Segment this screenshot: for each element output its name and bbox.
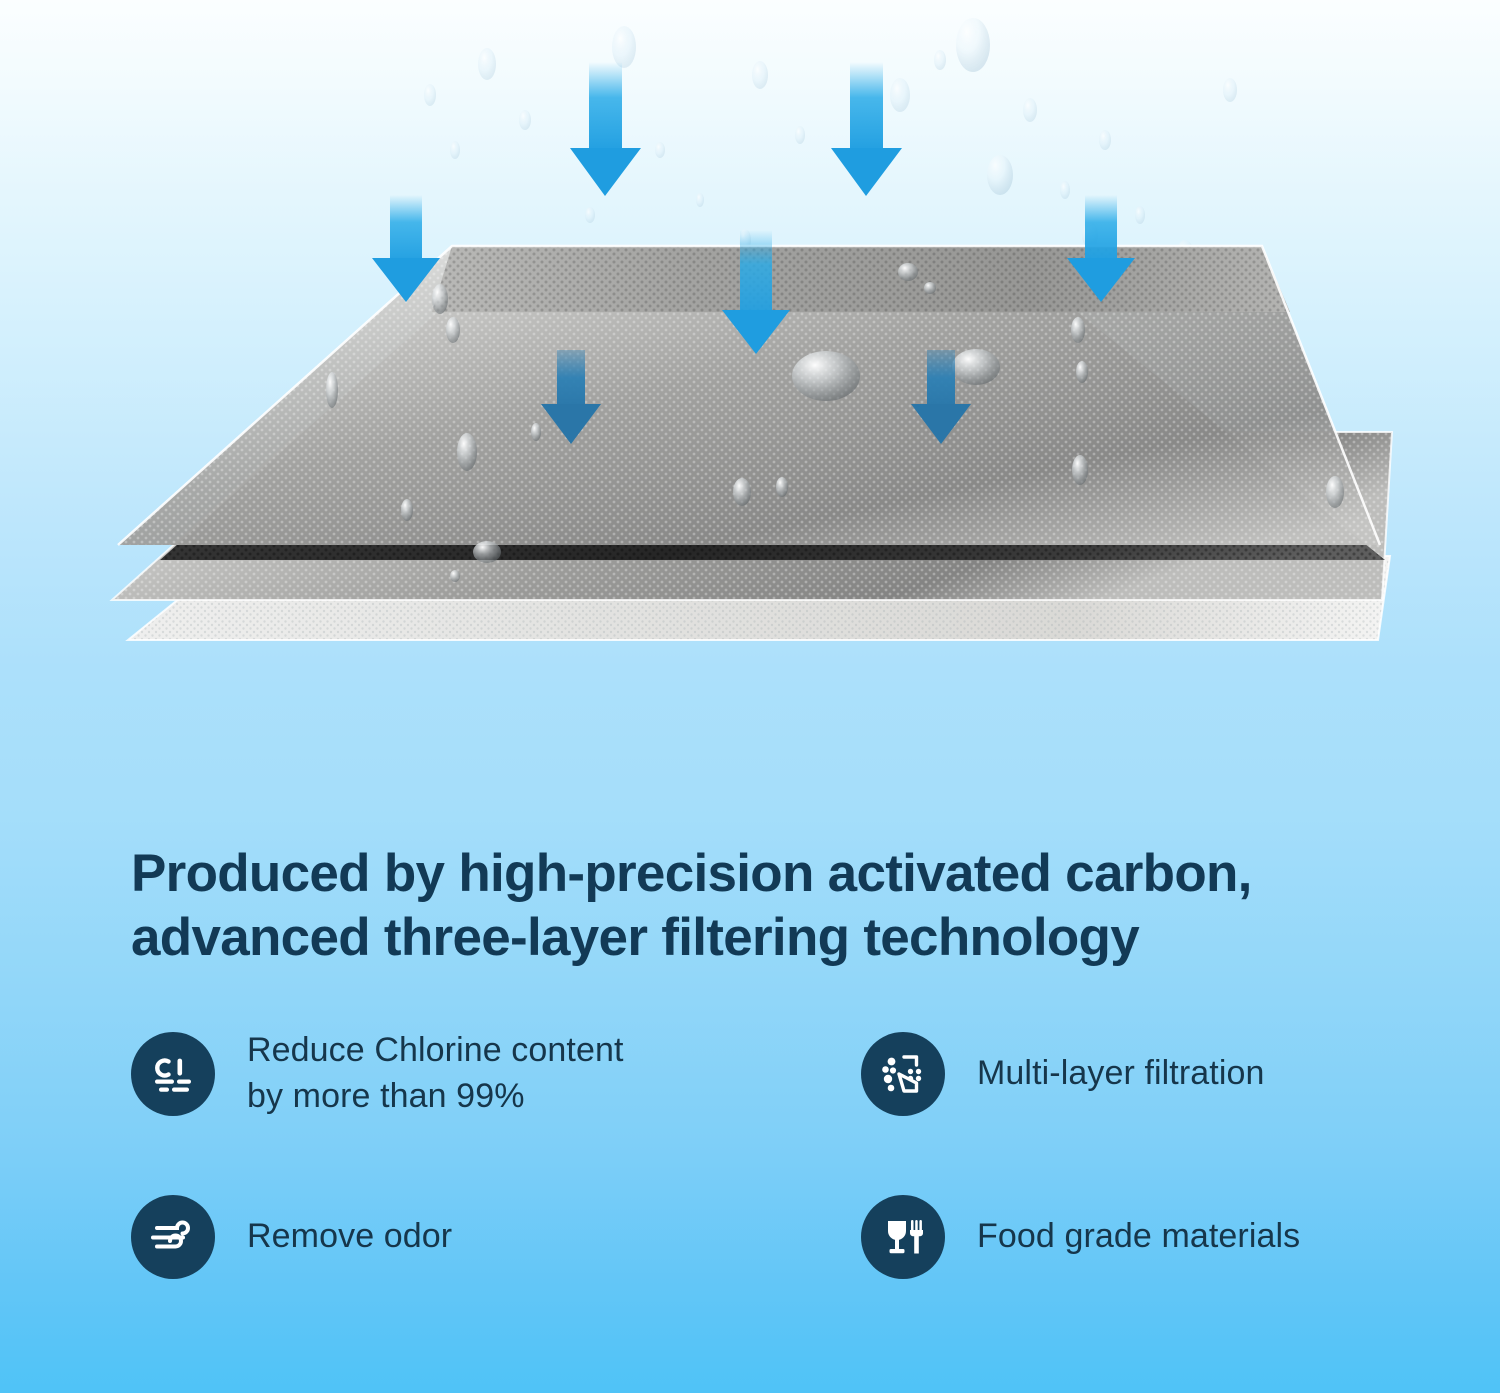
glass-fork-food-safe-icon: [861, 1195, 945, 1279]
feature-label-reduce-chlorine: Reduce Chlorine content by more than 99%: [247, 1028, 624, 1119]
feature-item-food-grade-materials: Food grade materials: [861, 1155, 1421, 1318]
feature-item-multi-layer-filtration: Multi-layer filtration: [861, 992, 1421, 1155]
filter-sheet-stack: [0, 0, 1500, 730]
page-title: Produced by high-precision activated car…: [131, 842, 1391, 971]
feature-item-reduce-chlorine: Reduce Chlorine content by more than 99%: [131, 992, 861, 1155]
product-infographic: Produced by high-precision activated car…: [0, 0, 1500, 1393]
filter-layers-illustration: [0, 0, 1500, 730]
chlorine-filter-icon: [131, 1032, 215, 1116]
air-flow-icon: [131, 1195, 215, 1279]
multi-layer-filtration-icon: [861, 1032, 945, 1116]
feature-label-food-grade-materials: Food grade materials: [977, 1214, 1300, 1260]
feature-label-remove-odor: Remove odor: [247, 1214, 452, 1260]
page-title-line-2: advanced three-layer filtering technolog…: [131, 906, 1391, 971]
feature-list: Reduce Chlorine content by more than 99%: [131, 992, 1421, 1318]
feature-item-remove-odor: Remove odor: [131, 1155, 861, 1318]
feature-label-multi-layer-filtration: Multi-layer filtration: [977, 1051, 1265, 1097]
page-title-line-1: Produced by high-precision activated car…: [131, 842, 1391, 907]
